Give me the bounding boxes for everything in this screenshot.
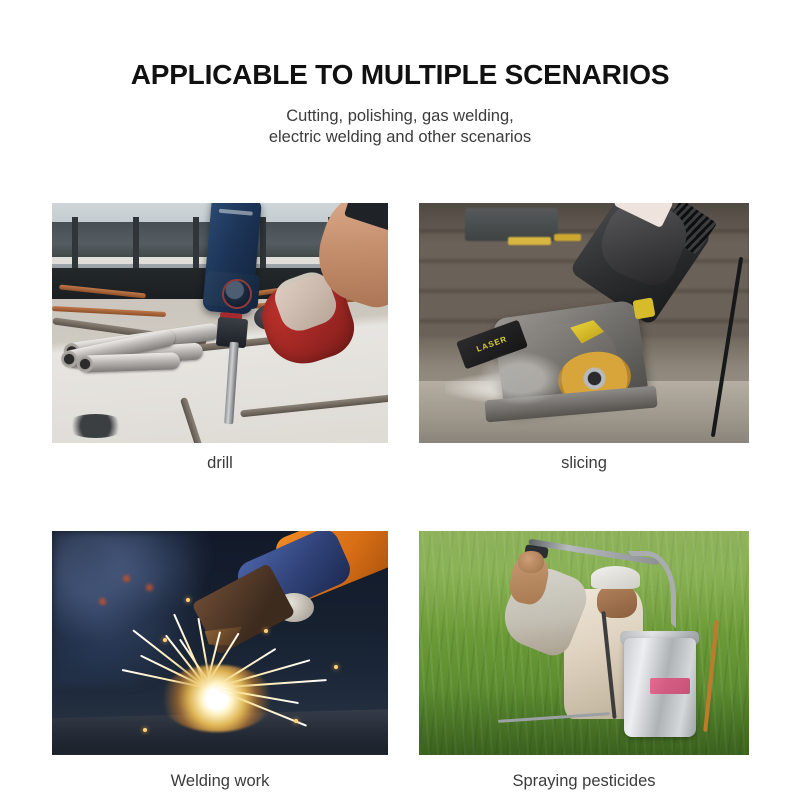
ember xyxy=(264,629,268,633)
drill-bit xyxy=(224,342,239,424)
background-light xyxy=(123,575,130,582)
tool-brand-stripe xyxy=(218,208,252,215)
page-title: APPLICABLE TO MULTIPLE SCENARIOS xyxy=(0,58,800,92)
subtitle-line-1: Cutting, polishing, gas welding, xyxy=(0,106,800,127)
drill-post xyxy=(72,217,78,275)
scenario-row-2: Welding work xyxy=(52,531,749,792)
scenario-card-spraying[interactable]: Spraying pesticides xyxy=(419,531,749,792)
subtitle-line-2: electric welding and other scenarios xyxy=(0,127,800,148)
scenario-caption: Welding work xyxy=(52,771,388,792)
farmer-hand xyxy=(518,551,544,573)
background-light xyxy=(99,598,106,605)
scenario-caption: drill xyxy=(52,453,388,474)
scenario-card-drill[interactable]: drill xyxy=(52,203,388,474)
scenario-grid: drill xyxy=(52,203,749,791)
rebar xyxy=(180,397,214,443)
scenario-card-welding[interactable]: Welding work xyxy=(52,531,388,792)
spraying-photo xyxy=(419,531,749,755)
scenario-caption: slicing xyxy=(419,453,749,474)
header: APPLICABLE TO MULTIPLE SCENARIOS Cutting… xyxy=(0,58,800,148)
drill-post xyxy=(260,217,266,275)
copper-pipe xyxy=(52,306,166,317)
scenario-card-slicing[interactable]: LASER slicing xyxy=(419,203,749,474)
farmer-cap xyxy=(591,566,641,588)
sprayer-tank-label xyxy=(650,678,690,694)
drill-post xyxy=(193,217,199,275)
dust-plume xyxy=(478,352,564,405)
background-yellow-tool xyxy=(508,237,551,245)
scenario-row-1: drill xyxy=(52,203,749,474)
slicing-photo: LASER xyxy=(419,203,749,443)
ember xyxy=(163,638,167,642)
background-yellow-tool xyxy=(554,234,580,241)
page-subtitle: Cutting, polishing, gas welding, electri… xyxy=(0,106,800,148)
scenario-caption: Spraying pesticides xyxy=(419,771,749,792)
ember xyxy=(143,728,147,732)
rebar xyxy=(240,394,388,418)
ember xyxy=(294,719,298,723)
steel-pipe xyxy=(79,352,180,373)
debris-pile xyxy=(65,414,125,438)
drill-photo xyxy=(52,203,388,443)
yellow-trigger-lock xyxy=(632,297,655,319)
page-root: APPLICABLE TO MULTIPLE SCENARIOS Cutting… xyxy=(0,0,800,800)
welding-photo xyxy=(52,531,388,755)
drill-post xyxy=(133,217,139,275)
